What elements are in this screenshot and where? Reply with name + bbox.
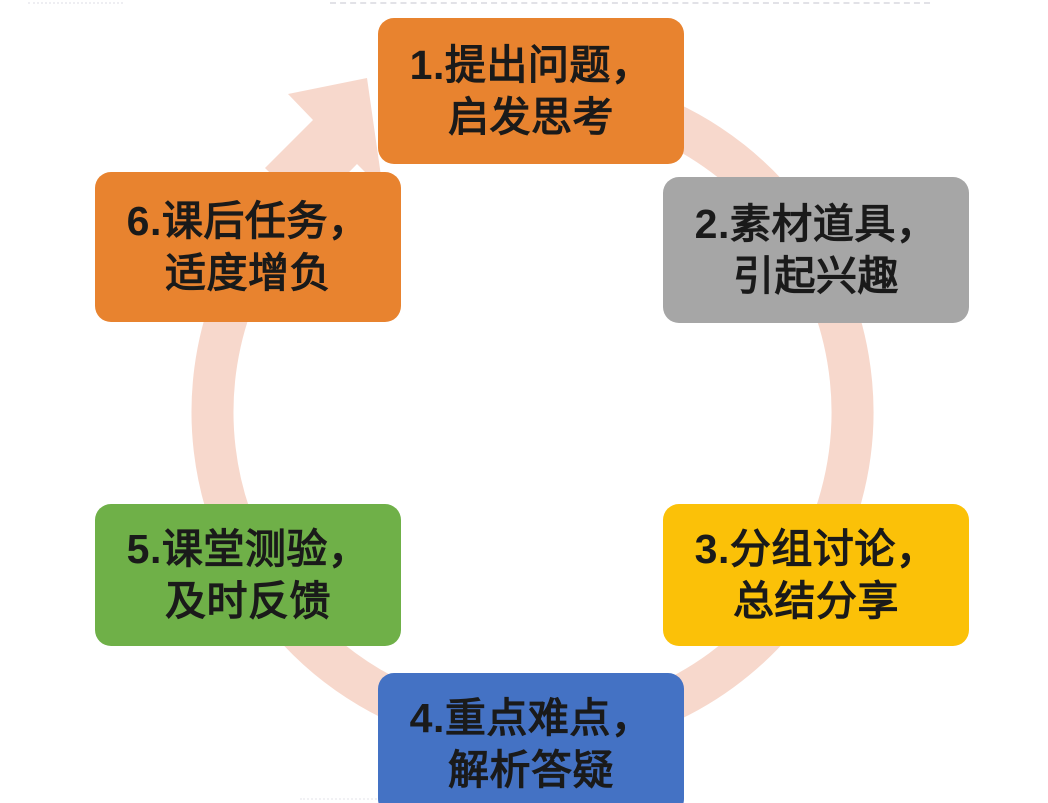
cycle-node-2[interactable]: 2.素材道具， 引起兴趣 [663, 177, 969, 323]
cycle-node-1-label: 1.提出问题， 启发思考 [410, 39, 653, 144]
cycle-node-4[interactable]: 4.重点难点， 解析答疑 [378, 673, 684, 803]
cycle-node-3[interactable]: 3.分组讨论， 总结分享 [663, 504, 969, 646]
cycle-node-6-label: 6.课后任务， 适度增负 [127, 195, 370, 300]
cycle-node-3-label: 3.分组讨论， 总结分享 [695, 523, 938, 628]
cycle-node-1[interactable]: 1.提出问题， 启发思考 [378, 18, 684, 164]
cycle-node-6[interactable]: 6.课后任务， 适度增负 [95, 172, 401, 322]
cycle-node-2-label: 2.素材道具， 引起兴趣 [695, 198, 938, 303]
diagram-canvas: 1.提出问题， 启发思考 2.素材道具， 引起兴趣 3.分组讨论， 总结分享 4… [0, 0, 1048, 803]
cycle-node-5-label: 5.课堂测验， 及时反馈 [127, 523, 370, 628]
cycle-node-4-label: 4.重点难点， 解析答疑 [410, 692, 653, 797]
cycle-node-5[interactable]: 5.课堂测验， 及时反馈 [95, 504, 401, 646]
